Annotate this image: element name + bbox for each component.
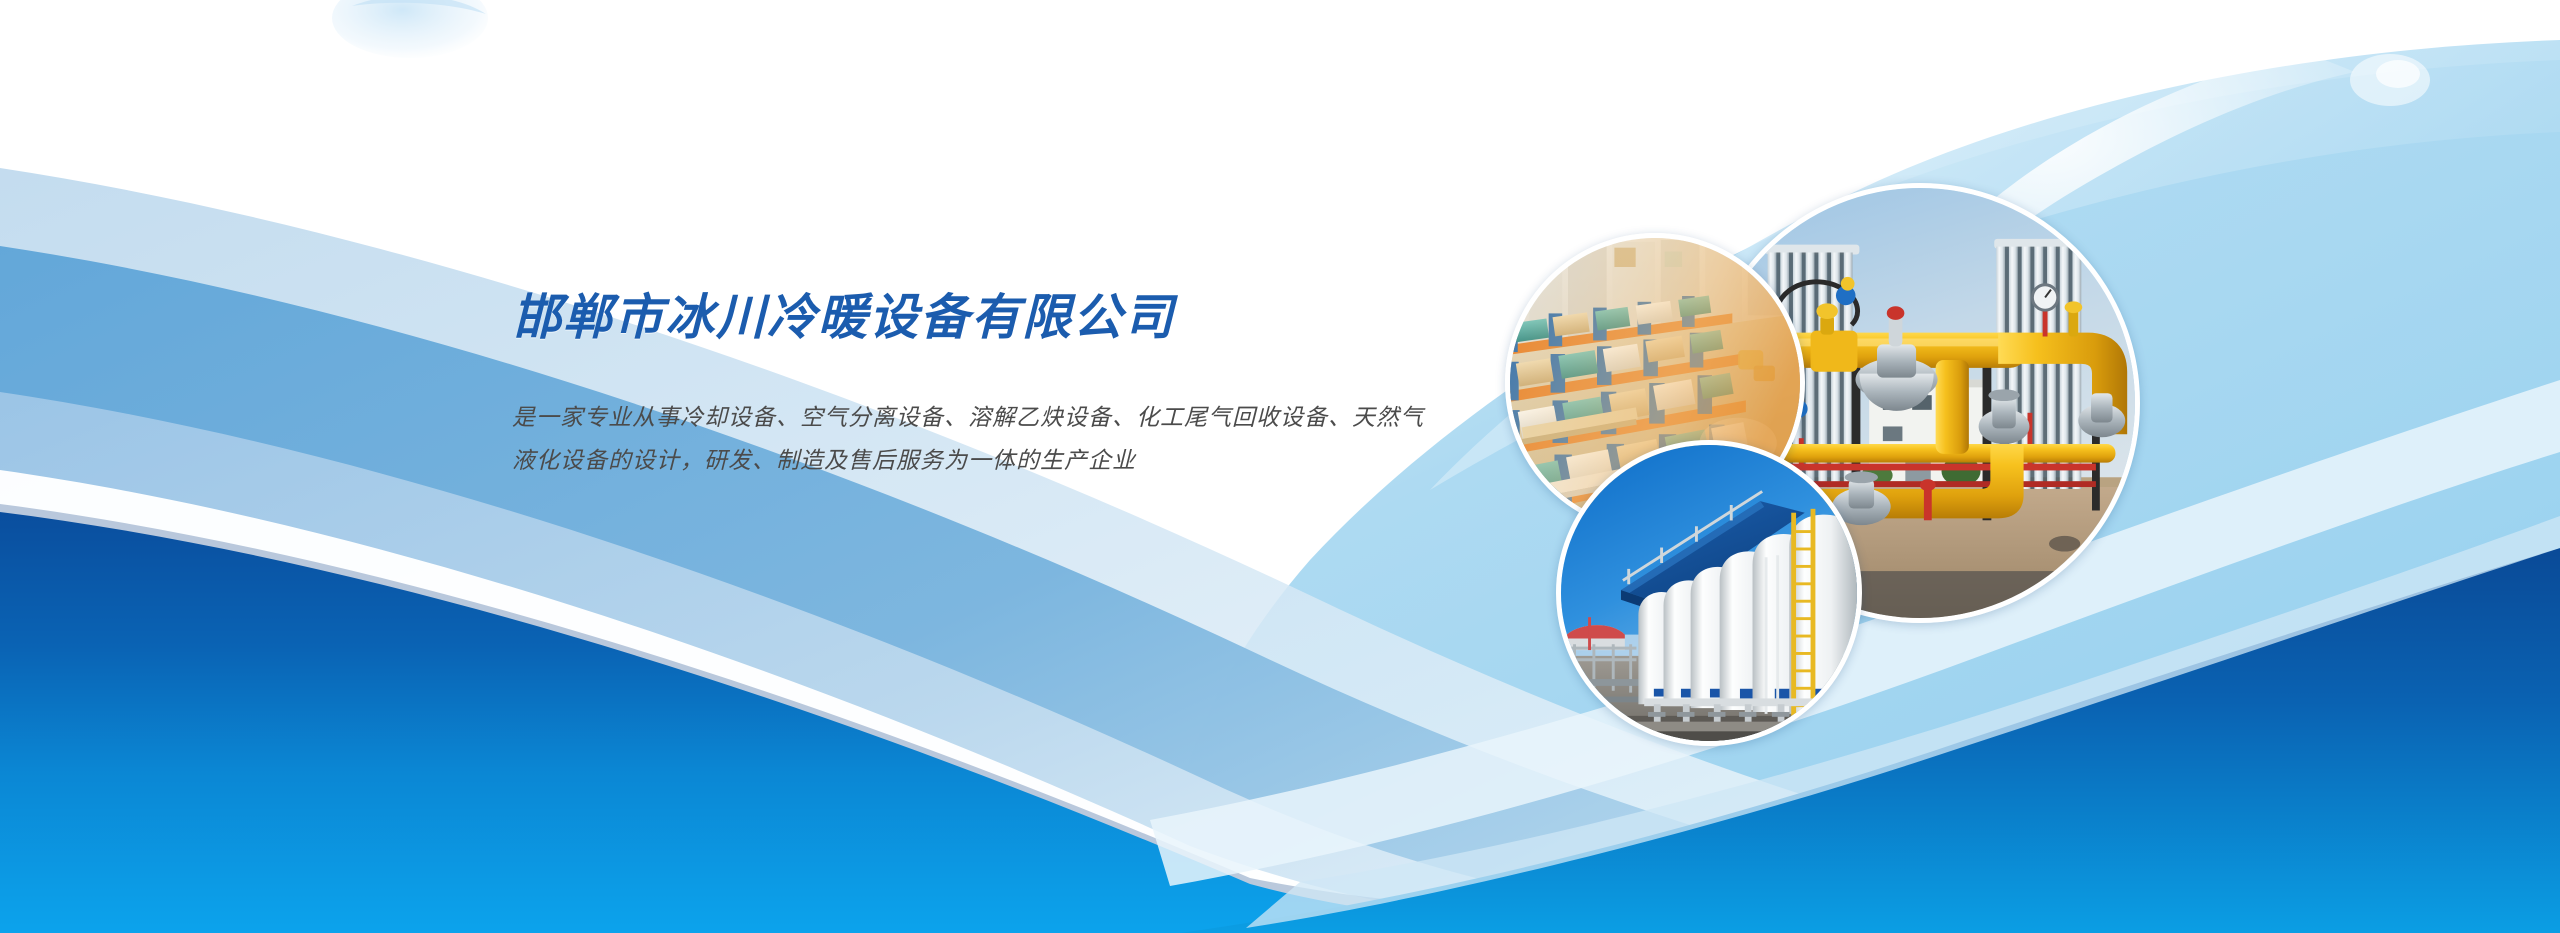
company-description: 是一家专业从事冷却设备、空气分离设备、溶解乙炔设备、化工尾气回收设备、天然气 液… (512, 396, 1532, 481)
banner-text-block: 邯郸市冰川冷暖设备有限公司 是一家专业从事冷却设备、空气分离设备、溶解乙炔设备、… (512, 290, 1532, 481)
description-line-1: 是一家专业从事冷却设备、空气分离设备、溶解乙炔设备、化工尾气回收设备、天然气 (512, 396, 1532, 439)
photo-cryogenic-storage-tanks (1556, 440, 1862, 746)
page-title: 邯郸市冰川冷暖设备有限公司 (512, 290, 1532, 346)
description-line-2: 液化设备的设计，研发、制造及售后服务为一体的生产企业 (512, 439, 1532, 482)
company-banner: 邯郸市冰川冷暖设备有限公司 是一家专业从事冷却设备、空气分离设备、溶解乙炔设备、… (0, 0, 2560, 933)
